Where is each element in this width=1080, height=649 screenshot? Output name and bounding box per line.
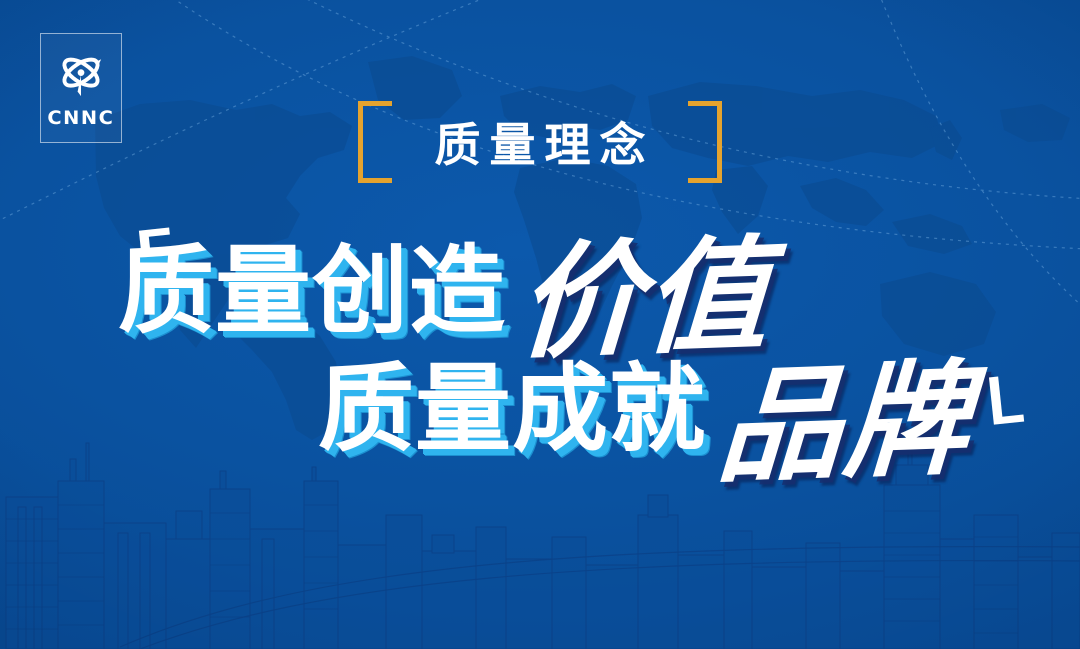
headline-line1-brush: 价值 (515, 239, 774, 362)
close-quote-mark: 」 (932, 356, 1026, 435)
headline-group: 「 质量创造 价值 质量成就 品牌 」 (0, 215, 1080, 505)
section-title-group: 质量理念 (358, 101, 722, 183)
headline-line2-block: 质量成就 (318, 361, 718, 459)
quality-concept-poster: CNNC 质量理念 「 质量创造 价值 质量成就 品牌 」 (0, 0, 1080, 649)
cnnc-wordmark: CNNC (47, 109, 114, 128)
headline-line-2: 质量成就 品牌 (318, 345, 970, 459)
headline-line1-block: 质量创造 (118, 243, 518, 341)
headline-line-1: 质量创造 价值 (118, 227, 770, 341)
cnnc-atom-icon (53, 48, 109, 104)
cnnc-logo[interactable]: CNNC (40, 33, 122, 143)
section-title-text: 质量理念 (358, 101, 722, 183)
